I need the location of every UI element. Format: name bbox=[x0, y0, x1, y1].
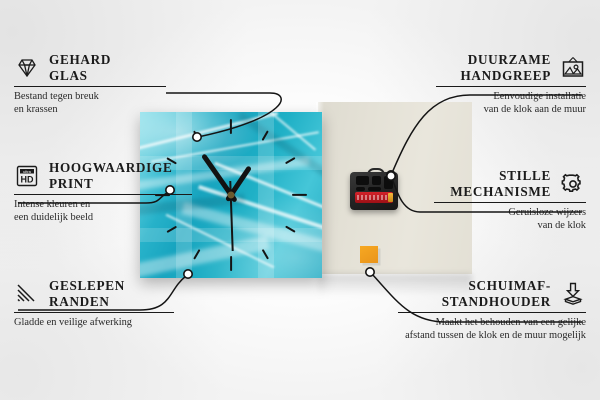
foam-spacer bbox=[360, 246, 378, 263]
beveled-edges-icon bbox=[14, 282, 40, 306]
feature-title: DUURZAME HANDGREEP bbox=[460, 52, 551, 83]
feature-divider bbox=[436, 86, 586, 87]
feature-title: SCHUIMAF- STANDHOUDER bbox=[442, 278, 551, 309]
feature-gehard-glas: GEHARD GLAS Bestand tegen breuk en krass… bbox=[14, 52, 204, 117]
feature-description: Bestand tegen breuk en krassen bbox=[14, 91, 204, 116]
feature-description: Gladde en veilige afwerking bbox=[14, 317, 204, 330]
feature-divider bbox=[398, 312, 586, 313]
feature-stille-mechanisme: STILLE MECHANISME Geruisloze wijzers van… bbox=[398, 168, 586, 233]
feature-duurzame-handgreep: DUURZAME HANDGREEP Eenvoudige installati… bbox=[398, 52, 586, 117]
feature-description: Maakt het behouden van een gelijke afsta… bbox=[398, 317, 586, 342]
feature-hoogwaardige-print: ultra HD HOOGWAARDIGE PRINT Intense kleu… bbox=[14, 160, 204, 225]
feature-divider bbox=[14, 86, 166, 87]
feature-schuimaf-standhouder: SCHUIMAF- STANDHOUDER Maakt het behouden… bbox=[398, 278, 586, 343]
svg-text:ultra: ultra bbox=[23, 169, 32, 174]
feature-title: HOOGWAARDIGE PRINT bbox=[49, 160, 172, 191]
diamond-icon bbox=[14, 56, 40, 80]
feature-geslepen-randen: GESLEPEN RANDEN Gladde en veilige afwerk… bbox=[14, 278, 204, 330]
hand-center-cap bbox=[228, 192, 235, 199]
product-infographic: GEHARD GLAS Bestand tegen breuk en krass… bbox=[0, 0, 600, 400]
feature-description: Intense kleuren en een duidelijk beeld bbox=[14, 199, 204, 224]
feature-description: Eenvoudige installatie van de klok aan d… bbox=[398, 91, 586, 116]
feature-divider bbox=[434, 202, 586, 203]
gear-icon bbox=[560, 172, 586, 196]
battery-positive-tip bbox=[388, 193, 393, 202]
feature-title: STILLE MECHANISME bbox=[450, 168, 551, 199]
feature-description: Geruisloze wijzers van de klok bbox=[398, 207, 586, 232]
feature-divider bbox=[14, 312, 174, 313]
feature-title: GESLEPEN RANDEN bbox=[49, 278, 125, 309]
quartz-movement bbox=[350, 168, 398, 210]
feature-title: GEHARD GLAS bbox=[49, 52, 111, 83]
foam-spacer-press-icon bbox=[560, 282, 586, 306]
svg-text:HD: HD bbox=[21, 174, 34, 184]
framed-picture-hanging-icon bbox=[560, 56, 586, 80]
ultra-hd-icon: ultra HD bbox=[14, 164, 40, 188]
feature-divider bbox=[14, 194, 192, 195]
battery-label bbox=[357, 195, 387, 200]
